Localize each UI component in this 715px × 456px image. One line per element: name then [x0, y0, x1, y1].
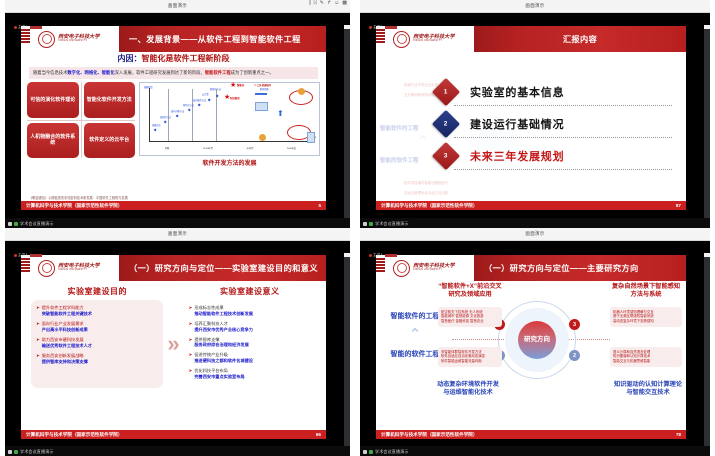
item-text: 面向行业产业发展需求产出高水平科技创新成果	[42, 321, 88, 333]
arrow-bullet-icon: ➤	[36, 337, 40, 349]
quadrant-caption-4: “智能软件+X”前沿交叉研究及领域应用	[438, 283, 502, 300]
quadrant-cells: 可信的演化软件理论 智能化软件开发方法 人机物融合的软件系统 软件定义的云平台	[27, 82, 135, 158]
item-text: 培养汇聚科技人才提升西安市优秀产业核心竞争力	[194, 321, 253, 333]
slide-3-footer: 计算机科学与技术学院（国家示范性软件学院） 66	[21, 430, 326, 439]
panel-3-video[interactable]: 主讲人 西安电子科技大学 XIDIAN UNIVERSITY	[5, 241, 350, 456]
research-direction-diagram: 智能软件的工程 ⌃ 智能的软件工程 研究方向	[376, 281, 686, 422]
video-panel-4[interactable]: 画面演示 主讲人 西安电子科技大学 XIDIAN	[355, 228, 715, 456]
panel-3-scrollbar[interactable]	[344, 253, 350, 456]
left-label-1-text: 智能软件的工程	[391, 313, 440, 320]
slide-1-note: 随着当今信息技术数字化、网络化、智能化深入发展，软件工程研究发展到达了新的阶段，…	[29, 67, 318, 79]
monitor-icon[interactable]	[363, 450, 367, 454]
slide-2-footer: 计算机科学与技术学院（国家示范性软件学院） 87	[376, 201, 686, 210]
arrow-bullet-icon: ➤	[189, 305, 193, 317]
x-tick: 70-80年代	[203, 146, 213, 150]
university-logo: 西安电子科技大学 XIDIAN UNIVERSITY	[21, 255, 119, 281]
name-plate	[30, 254, 42, 257]
quadrant-detail-4: 航空航天飞控系统 无人系统 智能城市 智慧能源 文化旅游 智慧医疗 金融科技 智…	[438, 307, 502, 327]
chevron-up-icon: ⌃	[378, 329, 452, 341]
item-line2: 推动智能软件工程技术创新发展	[194, 311, 253, 316]
slide-1-footer: 计算机科学与技术学院（国家示范性软件学院） 5	[21, 201, 326, 210]
slide-2-header: 西安电子科技大学 XIDIAN UNIVERSITY 汇报内容	[376, 26, 686, 52]
recording-dot-icon	[14, 254, 17, 257]
slide-1-title: 一、发展背景——从软件工程到智能软件工程	[119, 26, 326, 52]
device-icon	[307, 132, 315, 143]
scrollbar-thumb-top[interactable]	[704, 253, 710, 257]
left-label-2-text: 智能的软件工程	[391, 351, 440, 358]
ecosystem-illustration: ⬆	[253, 88, 315, 143]
slide-3-title: （一）研究方向与定位——实验室建设目的和意义	[119, 255, 326, 281]
window-title: 画面演示	[168, 3, 187, 10]
window-title: 画面演示	[525, 231, 544, 238]
logo-bars-icon	[376, 258, 385, 272]
item-line2: 产出高水平科技创新成果	[42, 327, 88, 332]
gridline	[192, 89, 193, 141]
development-chart: 抽象程度 时间	[139, 82, 320, 156]
university-name: 西安电子科技大学 XIDIAN UNIVERSITY	[413, 264, 455, 272]
slide-3: 西安电子科技大学 XIDIAN UNIVERSITY （一）研究方向与定位——实…	[21, 255, 326, 439]
recording-dot-icon	[369, 26, 372, 29]
subtitle-highlight: 智能化是软件工程新阶段	[142, 54, 230, 63]
quadrant-caption-1: 动态复杂环境软件开发与运维智能化技术	[436, 381, 500, 398]
slide-3-columns: ➤提升软件工程学科能力突破智能软件工程关键技术 ➤面向行业产业发展需求产出高水平…	[21, 300, 326, 389]
slide-4-body: 智能软件的工程 ⌃ 智能的软件工程 研究方向	[376, 281, 686, 422]
agenda-label: 未来三年发展规划	[470, 148, 564, 164]
slide-1-subtitle: 内因：智能化是软件工程新阶段	[21, 53, 326, 64]
item-text: 提升软件工程学科能力突破智能软件工程关键技术	[42, 305, 92, 317]
item-line1: 形成标志性成果	[194, 305, 223, 310]
agenda-number-badge: 3	[432, 142, 460, 170]
list-item: ➤培养汇聚科技人才提升西安市优秀产业核心竞争力	[189, 321, 311, 333]
item-text: 促进传统产业升级推进硬科技之都和软件名城建设	[194, 352, 253, 364]
name-plate	[385, 26, 397, 29]
monitor-icon[interactable]	[363, 222, 367, 226]
chart-plot-area: 抽象程度 时间	[142, 85, 317, 153]
quadrant-detail-1: 多智能体群智软件开发方法 软件自适应自治化驱动态演变 软件智能运维智能流量均衡	[438, 347, 502, 367]
university-name-en: XIDIAN UNIVERSITY	[413, 269, 455, 272]
slide-4-footer: 计算机科学与技术学院（国家示范性软件学院） 78	[376, 430, 686, 439]
agenda-number: 3	[444, 153, 448, 160]
footer-text: 计算机科学与技术学院（国家示范性软件学院）	[26, 203, 122, 209]
pencil-icon[interactable]: ✎	[320, 1, 324, 6]
point-label: 机器语言	[152, 123, 161, 127]
note-lead: 随着当今信息技术	[33, 70, 67, 75]
taskbar-label: 学术会议直播演示	[375, 221, 409, 227]
agenda-item[interactable]: 2 建设运行基础情况	[436, 108, 672, 140]
panel-4-video[interactable]: 主讲人 西安电子科技大学 XIDIAN UNIVERSITY	[360, 241, 710, 456]
list-item: ➤提供智库支撑服务政府综合治理和经济发展	[189, 337, 311, 349]
quadrant-detail-3: 机器人环境感知理解与交互 基于无源互联感知智能系统 高动态复杂环境下态势感知	[610, 307, 682, 327]
agenda-number-badge: 2	[432, 110, 460, 138]
logo-bars-icon	[376, 29, 385, 43]
agenda-label: 建设运行基础情况	[470, 116, 564, 132]
note-tail: 成为了创新重点之一。	[231, 70, 274, 75]
point-label: 面向对象方法	[171, 109, 184, 113]
up-arrow-icon: ⬆	[277, 110, 284, 118]
list-item: ➤提升软件工程学科能力突破智能软件工程关键技术	[36, 305, 158, 317]
quadrant-diagram: 可信的演化软件理论 智能化软件开发方法 人机物融合的软件系统 软件定义的云平台	[27, 82, 135, 158]
quadrant-detail-2: 语义计算和自然语言处理 知识图谱和认知计算技术 智能交互与机器思维智能	[610, 347, 682, 367]
slide-3-headings: 实验室建设目的 实验室建设意义	[21, 286, 326, 297]
list-item: ➤优化科技平台布局完善西安市重点实验室布局	[189, 368, 311, 380]
agenda-underline	[454, 137, 672, 138]
item-text: 提供智库支撑服务政府综合治理和经济发展	[194, 337, 248, 349]
chart-column: 抽象程度 时间	[139, 82, 320, 167]
agenda-number: 2	[444, 121, 448, 128]
item-line1: 促进传统产业升级	[194, 352, 228, 357]
ghost-bullet: 软件项目编内智能化跟踪运行	[404, 180, 448, 185]
highlight-label: 智能化	[237, 83, 244, 87]
university-name-en: XIDIAN UNIVERSITY	[58, 269, 100, 272]
slide-4-header: 西安电子科技大学 XIDIAN UNIVERSITY （一）研究方向与定位——主…	[376, 255, 686, 281]
video-panel-1[interactable]: 画面演示 ⫿ ᛞ ✎ ↱ ☺ ▩ 主讲人	[0, 0, 355, 228]
panel-2-scrollbar[interactable]	[704, 25, 710, 228]
university-name-en: XIDIAN UNIVERSITY	[413, 40, 455, 43]
mic-icon[interactable]	[14, 450, 18, 454]
arrow-bullet-icon: ➤	[189, 368, 193, 380]
bar-icon	[255, 93, 267, 95]
mic-icon[interactable]	[369, 222, 373, 226]
ghost-bullet: 自适应管理优化平台方法创新	[404, 190, 448, 195]
item-line1: 优化科技平台布局	[194, 368, 228, 373]
x-tick: 早期	[165, 146, 169, 150]
person-icon	[259, 134, 266, 141]
item-text: 形成标志性成果推动智能软件工程技术创新发展	[194, 305, 253, 317]
item-line1: 提升软件工程学科能力	[42, 305, 84, 310]
logo-bars-icon	[21, 29, 30, 43]
point-label: 面向服务方法	[193, 98, 206, 102]
item-line2: 突破智能软件工程关键技术	[42, 311, 92, 316]
panel-1-window-bar: 画面演示 ⫿ ᛞ ✎ ↱ ☺ ▩	[5, 0, 350, 13]
chat-icon[interactable]: ᛞ	[314, 1, 317, 6]
arrow-bullet-icon: ➤	[189, 321, 193, 333]
slide-1-content-row: 可信的演化软件理论 智能化软件开发方法 人机物融合的软件系统 软件定义的云平台	[21, 82, 326, 167]
quadrant-caption-2: 知识驱动的认知计算理论与智能交互技术	[612, 381, 684, 398]
slide-4-title: （一）研究方向与定位——主要研究方向	[474, 255, 686, 281]
device-icon	[255, 102, 268, 111]
ghost-label: 智能的软件工程	[380, 156, 419, 164]
data-point	[216, 94, 219, 97]
mic-icon[interactable]	[14, 222, 18, 226]
name-plate	[30, 26, 42, 29]
list-item: ➤助力西安市硬科技发展输送优秀软件工程技术人才	[36, 337, 158, 349]
right-heading: 实验室建设意义	[220, 286, 280, 297]
note-mid: 深入发展，软件工程研究发展到达了新的阶段，	[115, 70, 205, 75]
item-line2: 输送优秀软件工程技术人才	[42, 343, 92, 348]
x-tick-labels: 早期 70-80年代 90年代 2000年后	[148, 146, 313, 150]
arrow-bullet-icon: ➤	[36, 305, 40, 317]
quadrant-badge-2: 2	[569, 350, 580, 361]
footer-text: 计算机科学与技术学院（国家示范性软件学院）	[26, 432, 122, 438]
panel-1-taskbar[interactable]: 学术会议直播演示	[5, 218, 350, 228]
video-grid: 画面演示 ⫿ ᛞ ✎ ↱ ☺ ▩ 主讲人	[0, 0, 715, 456]
slide-3-body: 实验室建设目的 实验室建设意义 ➤提升软件工程学科能力突破智能软件工程关键技术 …	[21, 281, 326, 422]
item-line1: 面向行业产业发展需求	[42, 321, 84, 326]
monitor-icon[interactable]	[8, 222, 12, 226]
list-item: ➤形成标志性成果推动智能软件工程技术创新发展	[189, 305, 311, 317]
recording-dot-icon	[369, 254, 372, 257]
note-keyword-1: 数字化、网络化、智能化	[67, 70, 114, 75]
x-tick: 2000年后	[287, 146, 296, 150]
more-icon[interactable]: ▩	[342, 1, 347, 6]
quadrant-box: 智能化软件开发方法	[84, 82, 136, 118]
agenda-item[interactable]: 3 未来三年发展规划	[436, 140, 672, 172]
university-crest-icon	[393, 260, 410, 277]
scrollbar-thumb-top[interactable]	[344, 253, 350, 257]
list-item: ➤促进传统产业升级推进硬科技之都和软件名城建设	[189, 352, 311, 364]
ghost-chevron-icon: ⌃	[416, 132, 429, 152]
participant-tag-1: 主讲人	[14, 25, 42, 30]
data-point	[198, 103, 201, 106]
quadrant-box: 软件定义的云平台	[84, 123, 136, 159]
page-number: 78	[676, 432, 681, 437]
panel-3-inner: 画面演示 主讲人 西安电子科技大学 XIDIAN	[5, 228, 350, 456]
point-label: 云计算	[202, 92, 209, 96]
data-point	[188, 108, 191, 111]
panel-3-taskbar[interactable]: 学术会议直播演示	[5, 446, 350, 456]
panel-1-video[interactable]: 主讲人 西安电子科技大学 XIDIAN UNIVERSITY	[5, 13, 350, 228]
quadrant-box: 可信的演化软件理论	[27, 82, 79, 118]
video-panel-2[interactable]: 画面演示 主讲人 西安电子科技大学 XIDIAN	[355, 0, 715, 228]
participant-tag-2: 主讲人	[369, 25, 397, 30]
panel-3-window-bar: 画面演示	[5, 228, 350, 241]
taskbar-label: 学术会议直播演示	[20, 449, 54, 455]
taskbar-label: 学术会议直播演示	[20, 221, 54, 227]
list-item: ➤面向行业产业发展需求产出高水平科技创新成果	[36, 321, 158, 333]
badge-number: 2	[573, 353, 576, 359]
ghost-bullet: 探索行业不同企业引领	[404, 82, 438, 87]
item-text: 助力西安市硬科技发展输送优秀软件工程技术人才	[42, 337, 92, 349]
item-line1: 服务西安创新发展战略	[42, 353, 84, 358]
ghost-label: 智能软件的工程	[380, 124, 419, 132]
list-item: ➤服务西安创新发展战略提供智库支持和决策支撑	[36, 353, 158, 365]
share-icon[interactable]: ↱	[327, 1, 331, 6]
university-name: 西安电子科技大学 XIDIAN UNIVERSITY	[58, 35, 100, 43]
y-axis-label: 抽象程度	[144, 85, 153, 89]
panel-4-taskbar[interactable]: 学术会议直播演示	[360, 446, 710, 456]
slide-2-title: 汇报内容	[474, 26, 686, 52]
item-line2: 提升西安市优秀产业核心竞争力	[194, 327, 253, 332]
agenda-list: 1 实验室的基本信息 2 建设运行基础情况 3 未来	[436, 76, 672, 172]
badge-number: 3	[573, 322, 576, 328]
quadrant-caption-3: 复杂自然场景下智能感知方法与系统	[610, 283, 682, 300]
item-line2: 推进硬科技之都和软件名城建设	[194, 358, 253, 363]
slide-4: 西安电子科技大学 XIDIAN UNIVERSITY （一）研究方向与定位——主…	[376, 255, 686, 439]
video-panel-3[interactable]: 画面演示 主讲人 西安电子科技大学 XIDIAN	[0, 228, 355, 456]
page-number: 87	[676, 203, 681, 208]
core-circle: 研究方向 4 3 1 2	[498, 301, 576, 379]
agenda-number-badge: 1	[432, 78, 460, 106]
y-axis	[149, 88, 150, 141]
logo-bars-icon	[21, 258, 30, 272]
university-name: 西安电子科技大学 XIDIAN UNIVERSITY	[58, 264, 100, 272]
mic-icon[interactable]	[369, 450, 373, 454]
data-point	[176, 114, 179, 117]
university-crest-icon	[38, 260, 55, 277]
arrow-bullet-icon: ➤	[189, 337, 193, 349]
participant-name: 主讲人	[373, 253, 384, 258]
quadrant-badge-3: 3	[569, 319, 580, 330]
slide-1-body: 内因：智能化是软件工程新阶段 随着当今信息技术数字化、网络化、智能化深入发展，软…	[21, 52, 326, 193]
chart-caption: 软件开发方法的发展	[139, 158, 320, 167]
emoji-icon[interactable]: ☺	[334, 1, 339, 6]
scrollbar-thumb-top[interactable]	[704, 25, 710, 29]
panel-2-video[interactable]: 主讲人 西安电子科技大学 XIDIAN UNIVERSITY	[360, 13, 710, 228]
slide-1-footnote: 《瞭望通信》心理健康的未知密码技术新发展：中国软件工程院与发展	[21, 193, 326, 201]
arrow-bullet-icon: ➤	[189, 352, 193, 364]
scrollbar-thumb-top[interactable]	[344, 25, 350, 29]
monitor-icon[interactable]	[8, 450, 12, 454]
core-label-text: 研究方向	[524, 336, 550, 344]
pin-icon[interactable]: ⫿	[309, 1, 311, 6]
slide-3-header: 西安电子科技大学 XIDIAN UNIVERSITY （一）研究方向与定位——实…	[21, 255, 326, 281]
item-text: 服务西安创新发展战略提供智库支持和决策支撑	[42, 353, 88, 365]
slide-2-body: ⌃ 智能软件的工程 智能的软件工程 探索行业不同企业引领 交叉期间需求驱动软件创…	[376, 52, 686, 193]
item-line1: 提供智库支撑	[194, 337, 219, 342]
footer-text: 计算机科学与技术学院（国家示范性软件学院）	[381, 203, 477, 209]
item-line1: 培养汇聚科技人才	[194, 321, 228, 326]
taskbar-label: 学术会议直播演示	[375, 449, 409, 455]
point-label: 构件化方法	[183, 103, 194, 107]
item-line2: 完善西安市重点实验室布局	[194, 374, 244, 379]
participant-tag-4: 主讲人	[369, 253, 397, 258]
page-number: 66	[316, 432, 321, 437]
data-point	[154, 128, 157, 131]
panel-2-inner: 画面演示 主讲人 西安电子科技大学 XIDIAN	[360, 0, 710, 228]
data-point	[208, 98, 211, 101]
item-line1: 助力西安市硬科技发展	[42, 337, 84, 342]
panel-2-window-bar: 画面演示	[360, 0, 710, 13]
participant-name: 主讲人	[18, 253, 29, 258]
arrow-bullet-icon: ➤	[36, 321, 40, 333]
point-label: 群智化方法	[210, 87, 221, 91]
agenda-item[interactable]: 1 实验室的基本信息	[436, 76, 672, 108]
university-crest-icon	[38, 31, 55, 48]
panel-1-scrollbar[interactable]	[344, 25, 350, 228]
window-title: 画面演示	[525, 3, 544, 10]
slide-2: 西安电子科技大学 XIDIAN UNIVERSITY 汇报内容 ⌃ 智能软件的工…	[376, 26, 686, 210]
panel-4-window-bar: 画面演示	[360, 228, 710, 241]
agenda-number: 1	[444, 89, 448, 96]
item-line2: 服务政府综合治理和经济发展	[194, 342, 248, 347]
slide-1: 西安电子科技大学 XIDIAN UNIVERSITY 一、发展背景——从软件工程…	[21, 26, 326, 210]
chevron-right-icon: »	[165, 333, 181, 355]
significance-card: ➤形成标志性成果推动智能软件工程技术创新发展 ➤培养汇聚科技人才提升西安市优秀产…	[184, 300, 316, 389]
panel-1-inner: 画面演示 ⫿ ᛞ ✎ ↱ ☺ ▩ 主讲人	[5, 0, 350, 228]
recording-dot-icon	[14, 26, 17, 29]
item-line2: 提供智库支持和决策支撑	[42, 359, 88, 364]
slide-1-header: 西安电子科技大学 XIDIAN UNIVERSITY 一、发展背景——从软件工程…	[21, 26, 326, 52]
panel-4-inner: 画面演示 主讲人 西安电子科技大学 XIDIAN	[360, 228, 710, 456]
page-number: 5	[318, 203, 321, 208]
agenda-underline	[454, 105, 672, 106]
name-plate	[385, 254, 397, 257]
university-name-en: XIDIAN UNIVERSITY	[58, 40, 100, 43]
x-tick: 90年代	[246, 146, 253, 150]
university-crest-icon	[393, 31, 410, 48]
arrow-bullet-icon: ➤	[36, 353, 40, 365]
window-toolbar[interactable]: ⫿ ᛞ ✎ ↱ ☺ ▩	[309, 1, 347, 6]
agenda-underline	[454, 169, 672, 170]
purpose-card: ➤提升软件工程学科能力突破智能软件工程关键技术 ➤面向行业产业发展需求产出高水平…	[31, 300, 163, 388]
participant-tag-3: 主讲人	[14, 253, 42, 258]
highlight-star-icon: ★	[230, 82, 236, 89]
window-title: 画面演示	[168, 231, 187, 238]
agenda-label: 实验室的基本信息	[470, 84, 564, 100]
highlight-label: 知识驱动	[230, 96, 240, 100]
item-text: 优化科技平台布局完善西安市重点实验室布局	[194, 368, 244, 380]
participant-name: 主讲人	[373, 25, 384, 30]
university-logo: 西安电子科技大学 XIDIAN UNIVERSITY	[376, 255, 474, 281]
note-keyword-2: 智能软件工程	[205, 70, 231, 75]
quadrant-box: 人机物融合的软件系统	[27, 123, 79, 159]
core-label: 研究方向	[518, 321, 556, 359]
left-heading: 实验室建设目的	[68, 286, 128, 297]
participant-name: 主讲人	[18, 25, 29, 30]
point-label: 结构化方法	[160, 115, 171, 119]
footer-text: 计算机科学与技术学院（国家示范性软件学院）	[381, 432, 477, 438]
panel-4-scrollbar[interactable]	[704, 253, 710, 456]
university-name: 西安电子科技大学 XIDIAN UNIVERSITY	[413, 35, 455, 43]
subtitle-lead: 内因：	[118, 54, 142, 63]
data-point	[164, 120, 167, 123]
panel-2-taskbar[interactable]: 学术会议直播演示	[360, 218, 710, 228]
